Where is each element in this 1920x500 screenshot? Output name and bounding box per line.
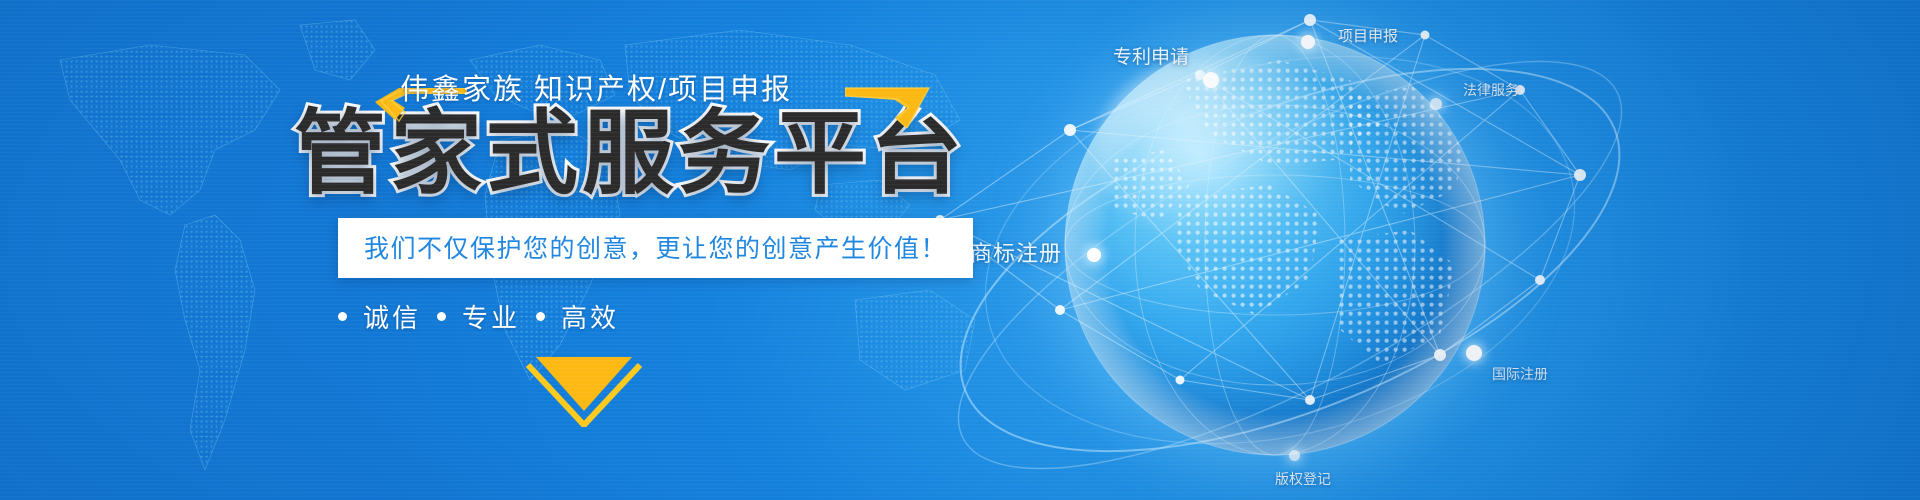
globe-node-4 bbox=[1466, 345, 1482, 361]
triangle-down-decoration bbox=[524, 355, 940, 432]
bullet-dot-icon bbox=[437, 312, 446, 321]
globe-node-1 bbox=[1203, 72, 1219, 88]
globe-label-1: 专利申请 bbox=[1113, 42, 1189, 69]
globe-node-5 bbox=[1289, 450, 1300, 461]
keyword-item-0: 诚信 bbox=[363, 298, 421, 335]
tagline-text: 我们不仅保护您的创意，更让您的创意产生价值！ bbox=[364, 235, 947, 263]
tagline-box: 我们不仅保护您的创意，更让您的创意产生价值！ bbox=[338, 218, 973, 278]
bullet-dot-icon bbox=[536, 312, 545, 321]
globe-node-2 bbox=[1430, 98, 1442, 110]
bullet-dot-icon bbox=[338, 312, 347, 321]
keyword-item-2: 高效 bbox=[561, 298, 619, 335]
arrow-right-chevron-icon bbox=[845, 86, 937, 128]
globe-node-0 bbox=[1301, 35, 1315, 49]
globe-label-4: 国际注册 bbox=[1492, 364, 1548, 384]
subtitle-row: 伟鑫家族 知识产权/项目申报 bbox=[300, 60, 940, 112]
banner-copy: 伟鑫家族 知识产权/项目申报 管家式服务平台 我们不仅保护您的创意，更让您的创意… bbox=[300, 60, 940, 432]
globe-label-2: 法律服务 bbox=[1463, 80, 1519, 100]
keyword-list: 诚信 专业 高效 bbox=[338, 298, 940, 335]
globe-node-3 bbox=[1087, 248, 1101, 262]
keyword-item-1: 专业 bbox=[462, 298, 520, 335]
hero-banner: 项目申报 专利申请 法律服务 商标注册 国际注册 版权登记 伟鑫家族 知识产权/… bbox=[0, 0, 1920, 500]
globe-label-3: 商标注册 bbox=[970, 236, 1062, 268]
globe-label-0: 项目申报 bbox=[1338, 25, 1398, 46]
brand-subtitle: 伟鑫家族 知识产权/项目申报 bbox=[400, 66, 792, 108]
globe-label-5: 版权登记 bbox=[1275, 469, 1331, 489]
triangle-down-icon bbox=[524, 355, 644, 427]
